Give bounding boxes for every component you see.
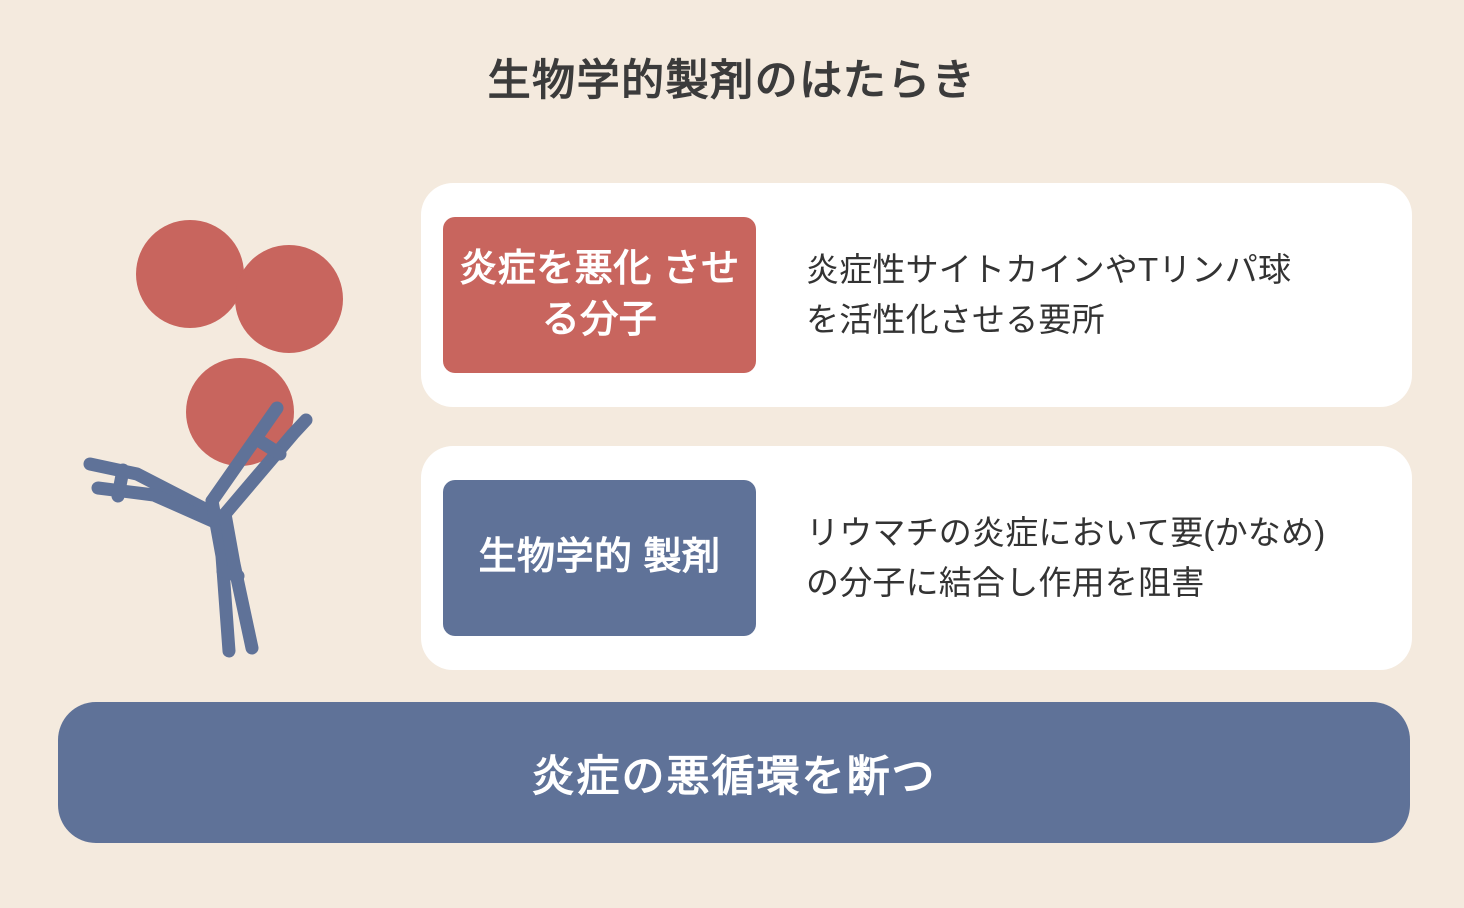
cytokine-molecule-2 [235,245,343,353]
card-description-inflammation-molecule: 炎症性サイトカインやTリンパ球 を活性化させる要所 [806,245,1412,345]
badge-label-line-1: 炎症を悪化 [459,248,652,290]
antibody-illustration [62,196,392,676]
info-card-inflammation-molecule: 炎症を悪化 させる分子 炎症性サイトカインやTリンパ球 を活性化させる要所 [421,183,1412,407]
badge-inflammation-molecule: 炎症を悪化 させる分子 [443,217,756,373]
card-description-biologic-agent: リウマチの炎症において要(かなめ) の分子に結合し作用を阻害 [806,508,1412,608]
page-title: 生物学的製剤のはたらき [0,56,1464,108]
card-description-line-1: リウマチの炎症において要(かなめ) [806,508,1388,558]
card-description-line-2: の分子に結合し作用を阻害 [806,558,1388,608]
badge-label-line-2: 製剤 [644,536,721,578]
card-description-line-2: を活性化させる要所 [806,295,1388,345]
card-description-line-1: 炎症性サイトカインやTリンパ球 [806,245,1388,295]
badge-label-line-1: 生物学的 [478,536,632,578]
cytokine-molecule-1 [136,220,244,328]
badge-biologic-agent: 生物学的 製剤 [443,480,756,636]
cytokine-molecule-group [136,220,343,466]
infographic-canvas: 生物学的製剤のはたらき [0,0,1464,908]
conclusion-banner: 炎症の悪循環を断つ [58,702,1410,843]
info-card-biologic-agent: 生物学的 製剤 リウマチの炎症において要(かなめ) の分子に結合し作用を阻害 [421,446,1412,670]
